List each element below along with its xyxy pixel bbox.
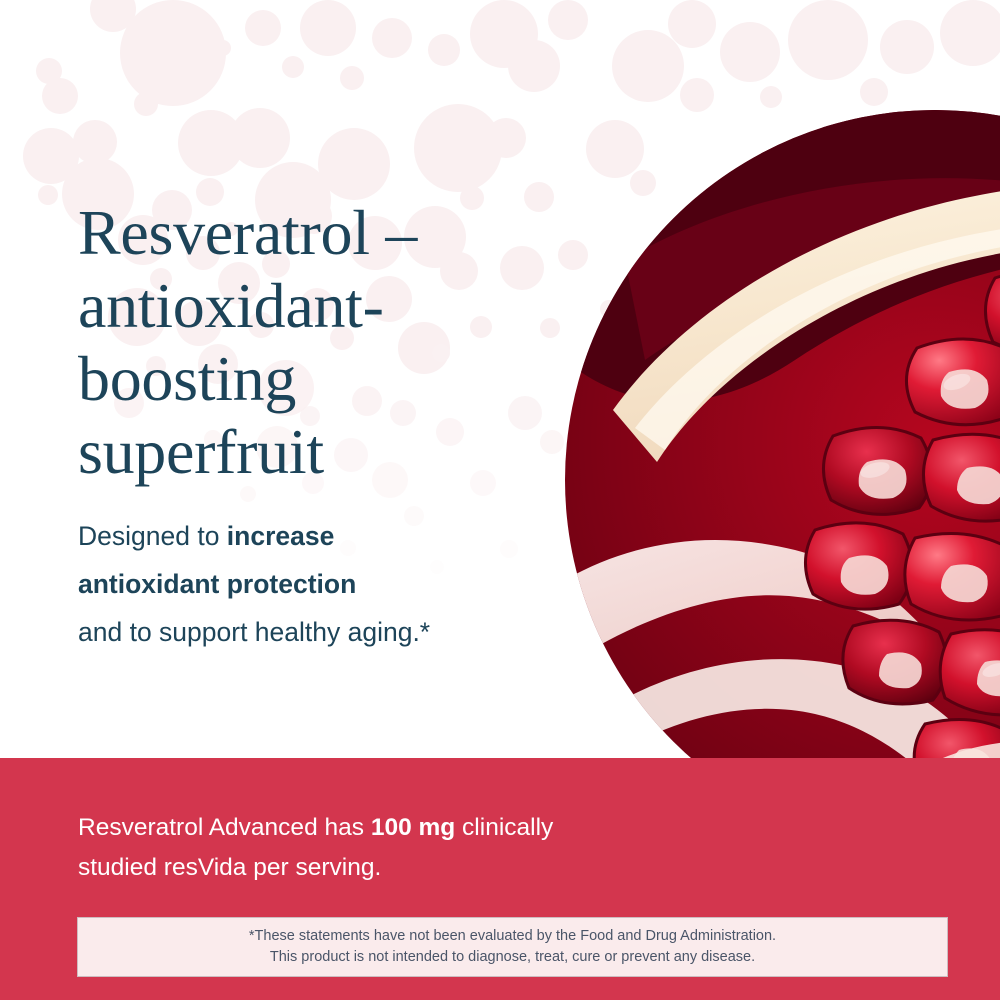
bubble-shape bbox=[134, 92, 158, 116]
bubble-shape bbox=[788, 0, 868, 80]
bubble-shape bbox=[940, 0, 1000, 66]
disclaimer-line-1: *These statements have not been evaluate… bbox=[249, 926, 776, 947]
bubble-shape bbox=[470, 0, 538, 68]
bubble-shape bbox=[245, 10, 281, 46]
bubble-shape bbox=[215, 40, 231, 56]
bubble-shape bbox=[42, 78, 78, 114]
bubble-shape bbox=[860, 78, 888, 106]
bubble-shape bbox=[90, 0, 136, 32]
banner-text-part-1: Resveratrol Advanced has bbox=[78, 814, 371, 841]
bubble-shape bbox=[178, 110, 244, 176]
bubble-shape bbox=[340, 66, 364, 90]
bubble-shape bbox=[230, 108, 290, 168]
bubble-shape bbox=[486, 118, 526, 158]
subhead-bold-antioxidant-protection: antioxidant protection bbox=[78, 569, 356, 599]
pomegranate-illustration bbox=[565, 110, 1000, 850]
headline-line-2: antioxidant- bbox=[78, 269, 548, 342]
headline-line-4: superfruit bbox=[78, 415, 548, 488]
subheading: Designed to increaseantioxidant protecti… bbox=[78, 512, 568, 656]
pomegranate-photo-circle bbox=[565, 110, 1000, 850]
disclaimer-line-2: This product is not intended to diagnose… bbox=[270, 947, 755, 968]
marketing-graphic: Resveratrol – antioxidant- boosting supe… bbox=[0, 0, 1000, 1000]
bubble-shape bbox=[282, 56, 304, 78]
banner-dose-amount: 100 mg bbox=[371, 814, 455, 841]
bubble-shape bbox=[760, 86, 782, 108]
bubble-shape bbox=[73, 120, 117, 164]
subhead-text-part-1: Designed to bbox=[78, 521, 227, 551]
bubble-shape bbox=[508, 40, 560, 92]
bubble-shape bbox=[372, 18, 412, 58]
headline-line-3: boosting bbox=[78, 342, 548, 415]
banner-product-claim: Resveratrol Advanced has 100 mg clinical… bbox=[78, 808, 598, 888]
bubble-shape bbox=[428, 34, 460, 66]
page-title: Resveratrol – antioxidant- boosting supe… bbox=[78, 196, 548, 488]
bubble-shape bbox=[36, 58, 62, 84]
headline-line-1: Resveratrol – bbox=[78, 196, 548, 269]
subhead-bold-increase: increase bbox=[227, 521, 335, 551]
bubble-shape bbox=[680, 78, 714, 112]
bubble-shape bbox=[548, 0, 588, 40]
bubble-shape bbox=[318, 128, 390, 200]
subhead-text-part-2: and to support healthy aging.* bbox=[78, 617, 430, 647]
bubble-shape bbox=[38, 185, 58, 205]
bubble-shape bbox=[720, 22, 780, 82]
bubble-shape bbox=[414, 104, 502, 192]
bubble-shape bbox=[880, 20, 934, 74]
bubble-shape bbox=[612, 30, 684, 102]
bubble-shape bbox=[240, 486, 256, 502]
bubble-shape bbox=[668, 0, 716, 48]
fda-disclaimer-box: *These statements have not been evaluate… bbox=[77, 917, 948, 977]
bubble-shape bbox=[176, 48, 196, 68]
bubble-shape bbox=[300, 0, 356, 56]
bubble-shape bbox=[23, 128, 79, 184]
bubble-shape bbox=[120, 0, 226, 106]
